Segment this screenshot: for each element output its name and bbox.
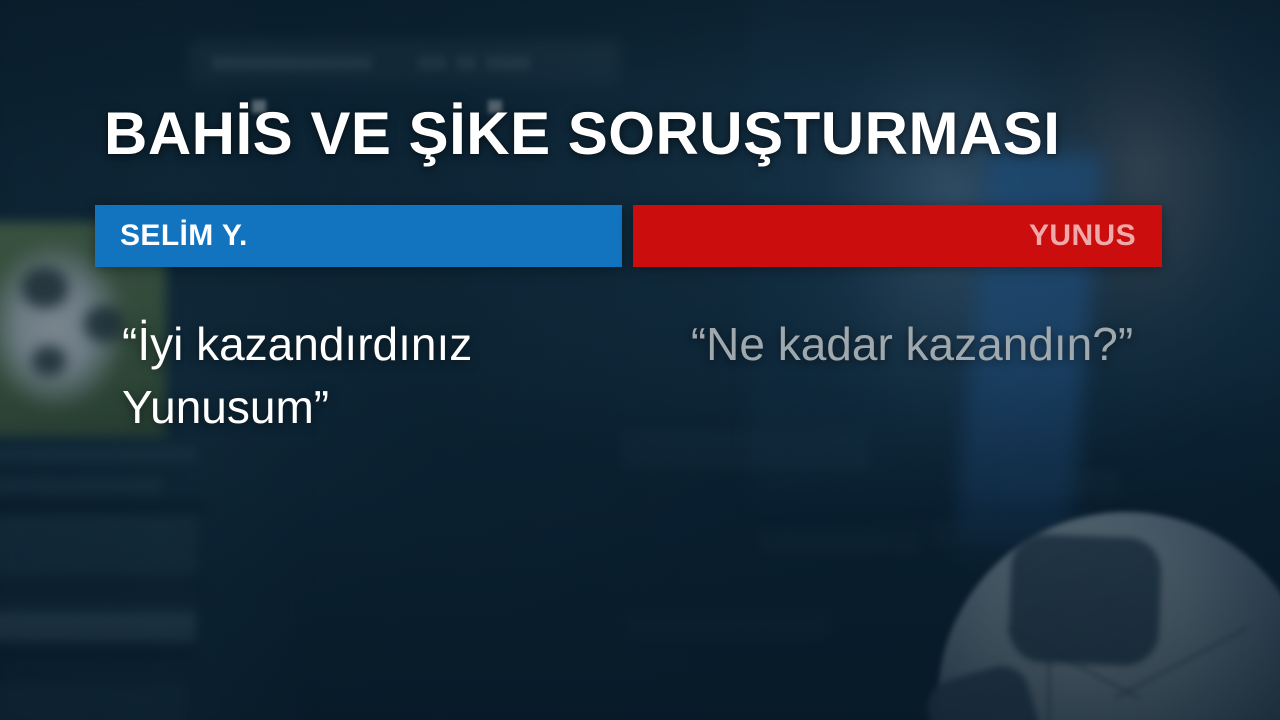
name-bar-right: YUNUS bbox=[633, 205, 1162, 267]
name-label-left: SELİM Y. bbox=[95, 221, 248, 251]
quote-text-left: “İyi kazandırdınız Yunusum” bbox=[122, 313, 642, 440]
name-label-right: YUNUS bbox=[1029, 221, 1162, 251]
page-title: BAHİS VE ŞİKE SORUŞTURMASI bbox=[104, 104, 1060, 164]
broadcast-graphic: BAHİS VE ŞİKE SORUŞTURMASI SELİM Y. YUNU… bbox=[0, 0, 1280, 720]
name-bar-left: SELİM Y. bbox=[95, 205, 622, 267]
quote-text-right: “Ne kadar kazandın?” bbox=[662, 313, 1162, 376]
